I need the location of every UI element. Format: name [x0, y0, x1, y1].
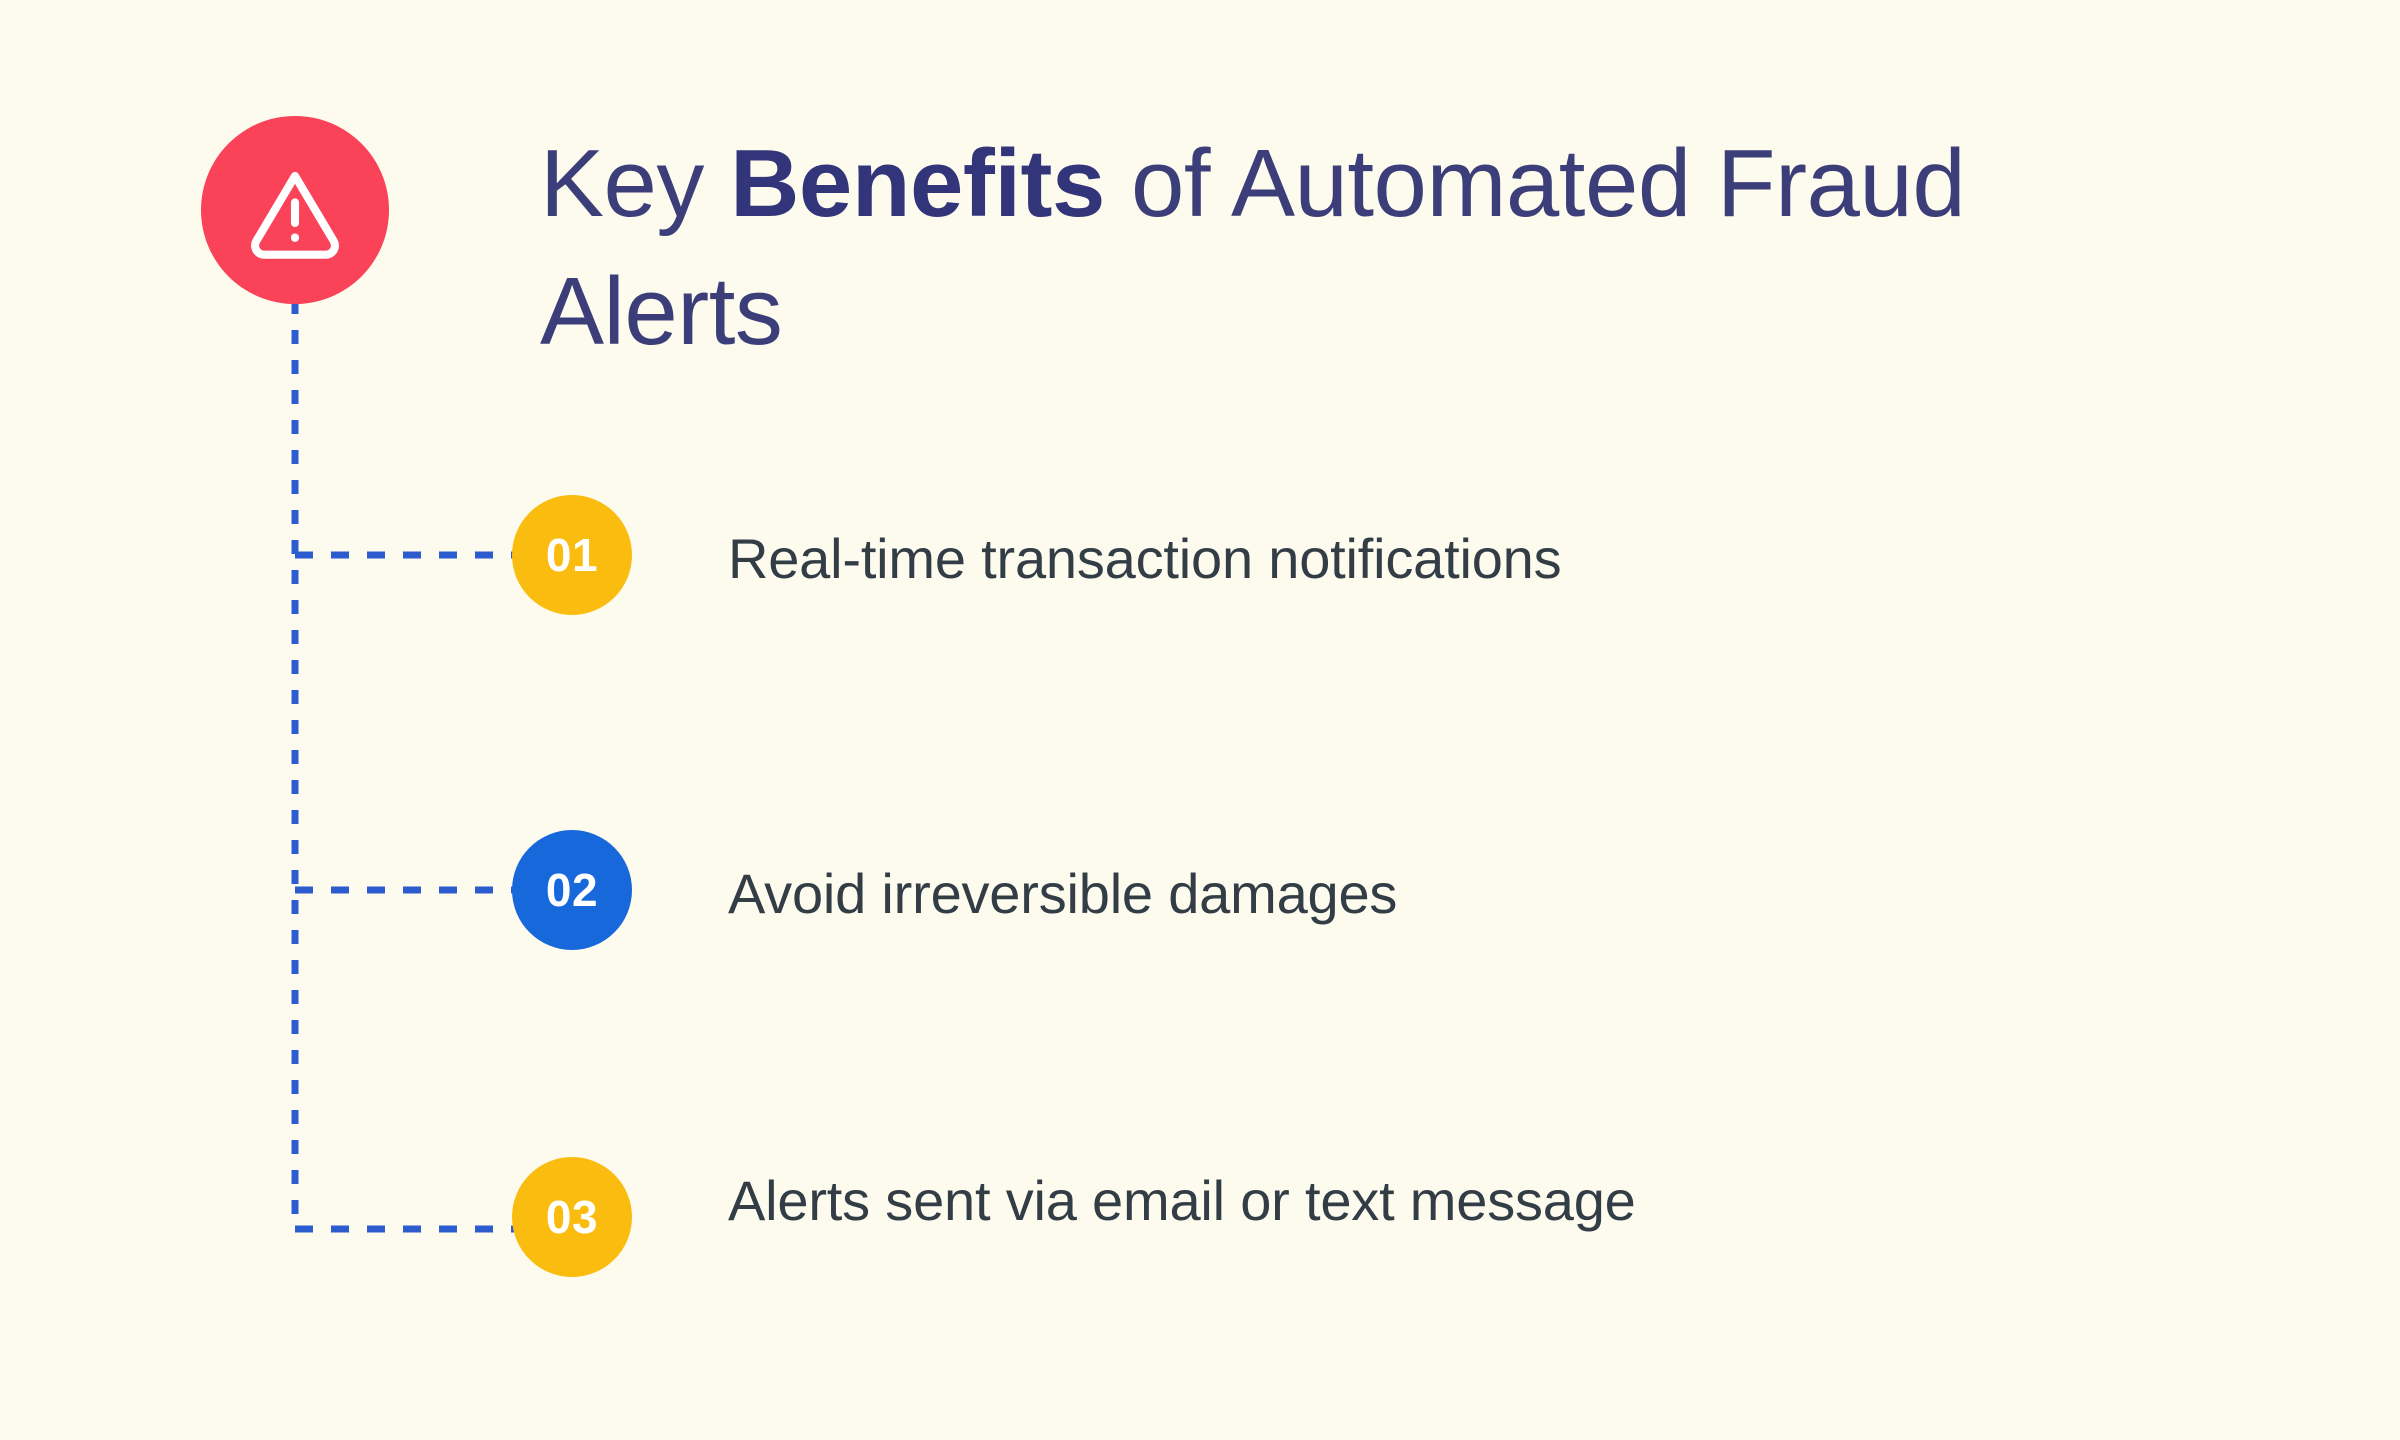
title-accent: Benefits [730, 130, 1105, 237]
item-number: 02 [546, 863, 598, 917]
title-part-1: Key [540, 130, 730, 237]
page-title: Key Benefits of Automated Fraud Alerts [540, 120, 2020, 375]
alert-circle [201, 116, 389, 304]
fraud-alerts-infographic: Key Benefits of Automated Fraud Alerts 0… [0, 0, 2400, 1440]
item-label: Avoid irreversible damages [728, 830, 1397, 934]
item-number: 03 [546, 1190, 598, 1244]
item-label: Real-time transaction notifications [728, 495, 1561, 599]
list-item: 01 Real-time transaction notifications [512, 495, 1561, 615]
list-item: 03 Alerts sent via email or text message [512, 1157, 1636, 1277]
warning-triangle-icon [241, 156, 349, 264]
item-number-badge: 03 [512, 1157, 632, 1277]
item-number-badge: 01 [512, 495, 632, 615]
item-number-badge: 02 [512, 830, 632, 950]
item-number: 01 [546, 528, 598, 582]
item-label: Alerts sent via email or text message [728, 1157, 1636, 1241]
list-item: 02 Avoid irreversible damages [512, 830, 1397, 950]
